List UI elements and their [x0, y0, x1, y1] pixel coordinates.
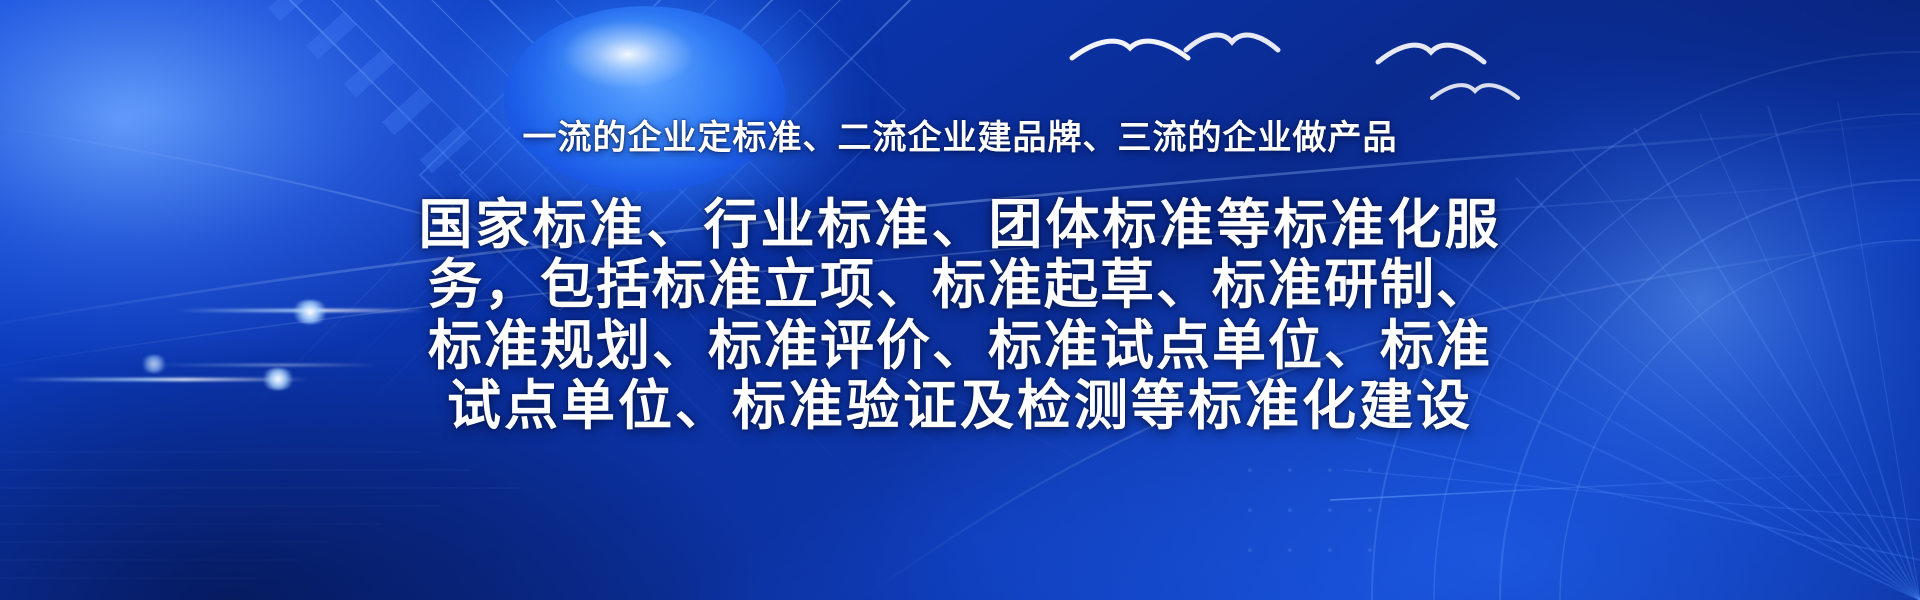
body-line-4: 试点单位、标准验证及检测等标准化建设: [332, 376, 1588, 436]
body-line-2: 务，包括标准立项、标准起草、标准研制、: [332, 255, 1588, 315]
body-line-1: 国家标准、行业标准、团体标准等标准化服: [332, 195, 1588, 255]
banner-headline: 一流的企业定标准、二流企业建品牌、三流的企业做产品: [523, 118, 1398, 159]
body-line-3: 标准规划、标准评价、标准试点单位、标准: [332, 316, 1588, 376]
banner-content: 一流的企业定标准、二流企业建品牌、三流的企业做产品 国家标准、行业标准、团体标准…: [0, 0, 1920, 600]
promotional-banner: 一流的企业定标准、二流企业建品牌、三流的企业做产品 国家标准、行业标准、团体标准…: [0, 0, 1920, 600]
banner-body-copy: 国家标准、行业标准、团体标准等标准化服 务，包括标准立项、标准起草、标准研制、 …: [332, 195, 1588, 437]
